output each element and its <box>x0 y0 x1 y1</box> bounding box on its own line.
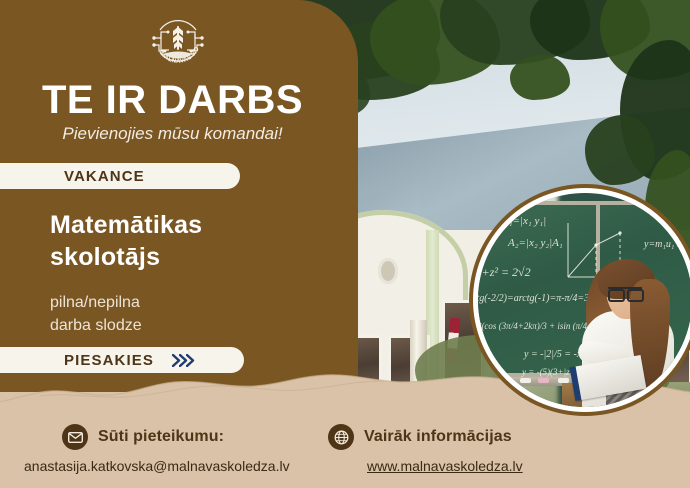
job-title-line-1: Matemātikas <box>50 209 320 241</box>
chalk-piece <box>520 378 531 383</box>
oculus-window <box>378 258 398 284</box>
vacancy-badge: VAKANCE <box>0 163 240 189</box>
malnavas-koledza-logo: MALNAVAS KOLEDŽA <box>147 10 209 72</box>
vacancy-badge-label: VAKANCE <box>64 168 145 185</box>
chalk-piece <box>538 378 549 383</box>
poster-root: MALNAVAS KOLEDŽA TE IR DARBS Pievienojie… <box>0 0 690 488</box>
job-workload-line-1: pilna/nepilna <box>50 292 320 315</box>
envelope-icon <box>62 424 88 450</box>
glasses-icon <box>608 287 642 298</box>
contact-website-value[interactable]: www.malnavaskoledza.lv <box>367 458 523 474</box>
contact-website[interactable]: Vairāk informācijas <box>328 424 512 450</box>
contact-email-label: Sūti pieteikumu: <box>98 428 224 446</box>
page-subtitle: Pievienojies mūsu komandai! <box>0 124 345 144</box>
teacher-blackboard-photo: A₁=|x₁ y₁| A₂=|x₂ y₂|A₁ +2i 2)²+z² = 2√2… <box>473 188 690 412</box>
contact-email[interactable]: Sūti pieteikumu: <box>62 424 224 450</box>
globe-icon <box>328 424 354 450</box>
contact-website-label: Vairāk informācijas <box>364 428 512 446</box>
page-title: TE IR DARBS <box>0 80 345 120</box>
job-title-line-2: skolotājs <box>50 241 320 273</box>
job-workload: pilna/nepilna darba slodze <box>50 292 320 337</box>
tree-foliage <box>585 115 655 185</box>
job-title: Matemātikas skolotājs <box>50 209 320 273</box>
contact-email-value[interactable]: anastasija.katkovska@malnavaskoledza.lv <box>24 458 290 474</box>
job-workload-line-2: darba slodze <box>50 315 320 338</box>
tree-foliage <box>510 55 570 100</box>
